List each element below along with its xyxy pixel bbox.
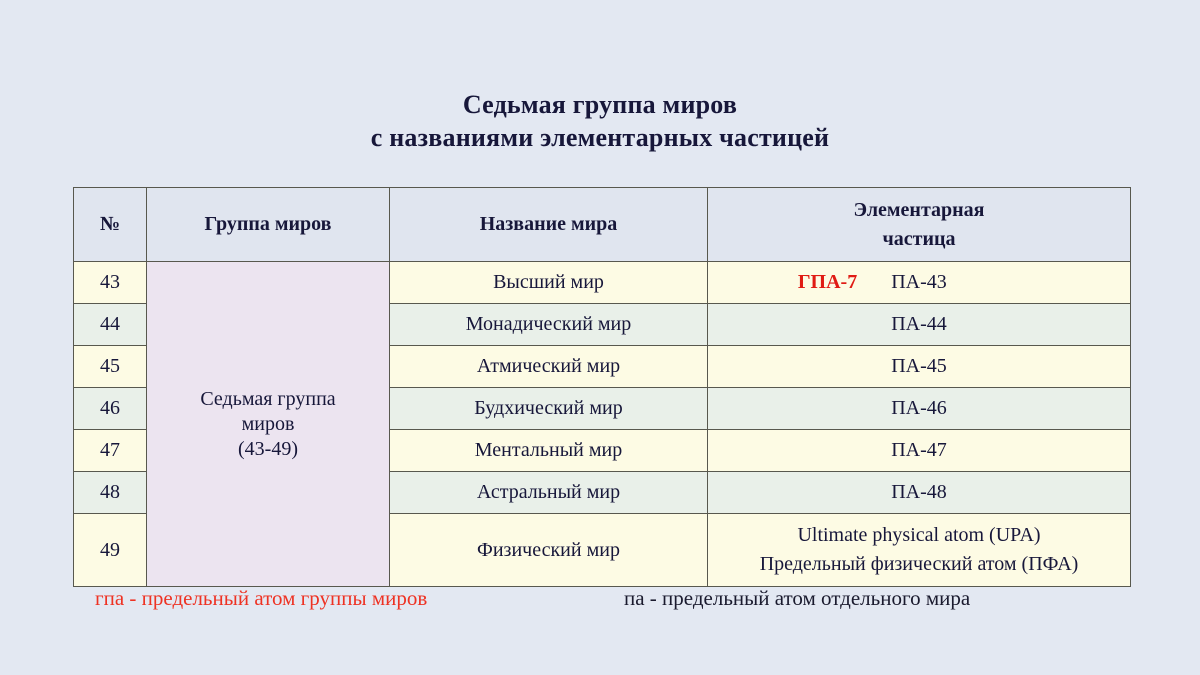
cell-particle: ПА-47 (708, 430, 1131, 472)
footnotes: гпа - предельный атом группы миров па - … (73, 583, 1130, 617)
column-header-world: Название мира (390, 188, 708, 262)
cell-number: 49 (74, 514, 147, 587)
column-header-particle: Элементарная частица (708, 188, 1131, 262)
particle-value-line-1: Ultimate physical atom (UPA) (708, 521, 1130, 550)
cell-world-name: Астральный мир (390, 472, 708, 514)
page-title-line-2: с названиями элементарных частицей (0, 121, 1200, 154)
column-header-particle-line-1: Элементарная (708, 196, 1130, 225)
cell-particle: Ultimate physical atom (UPA) Предельный … (708, 514, 1131, 587)
slide-root: Седьмая группа миров с названиями элемен… (0, 0, 1200, 675)
group-line-1: Седьмая группа (147, 387, 389, 412)
page-title-line-1: Седьмая группа миров (0, 88, 1200, 121)
column-header-number: № (74, 188, 147, 262)
cell-particle: ПА-46 (708, 388, 1131, 430)
cell-particle: ПА-48 (708, 472, 1131, 514)
cell-world-name: Будхический мир (390, 388, 708, 430)
worlds-table-container: № Группа миров Название мира Элементарна… (73, 187, 1130, 587)
cell-number: 45 (74, 346, 147, 388)
column-header-group: Группа миров (147, 188, 390, 262)
cell-world-name: Монадический мир (390, 304, 708, 346)
group-line-3: (43-49) (147, 437, 389, 462)
cell-particle: ГПА-7 ПА-43 (708, 262, 1131, 304)
particle-value-line-2: Предельный физический атом (ПФА) (708, 550, 1130, 579)
cell-number: 43 (74, 262, 147, 304)
cell-number: 47 (74, 430, 147, 472)
table-header-row: № Группа миров Название мира Элементарна… (74, 188, 1131, 262)
cell-world-name: Ментальный мир (390, 430, 708, 472)
table-row: 43 Седьмая группа миров (43-49) Высший м… (74, 262, 1131, 304)
cell-group-merged: Седьмая группа миров (43-49) (147, 262, 390, 587)
cell-world-name: Атмический мир (390, 346, 708, 388)
cell-particle: ПА-45 (708, 346, 1131, 388)
cell-number: 48 (74, 472, 147, 514)
group-particle-tag: ГПА-7 (798, 270, 857, 295)
worlds-table: № Группа миров Название мира Элементарна… (73, 187, 1131, 587)
cell-particle: ПА-44 (708, 304, 1131, 346)
cell-world-name: Физический мир (390, 514, 708, 587)
group-line-2: миров (147, 412, 389, 437)
footnote-gpa: гпа - предельный атом группы миров (95, 583, 427, 613)
footnote-pa: па - предельный атом отдельного мира (624, 583, 970, 613)
particle-value-wrapper: ГПА-7 ПА-43 (891, 270, 947, 295)
page-title: Седьмая группа миров с названиями элемен… (0, 88, 1200, 154)
particle-value: ПА-43 (891, 271, 947, 293)
column-header-particle-line-2: частица (708, 225, 1130, 254)
cell-world-name: Высший мир (390, 262, 708, 304)
cell-number: 44 (74, 304, 147, 346)
cell-number: 46 (74, 388, 147, 430)
